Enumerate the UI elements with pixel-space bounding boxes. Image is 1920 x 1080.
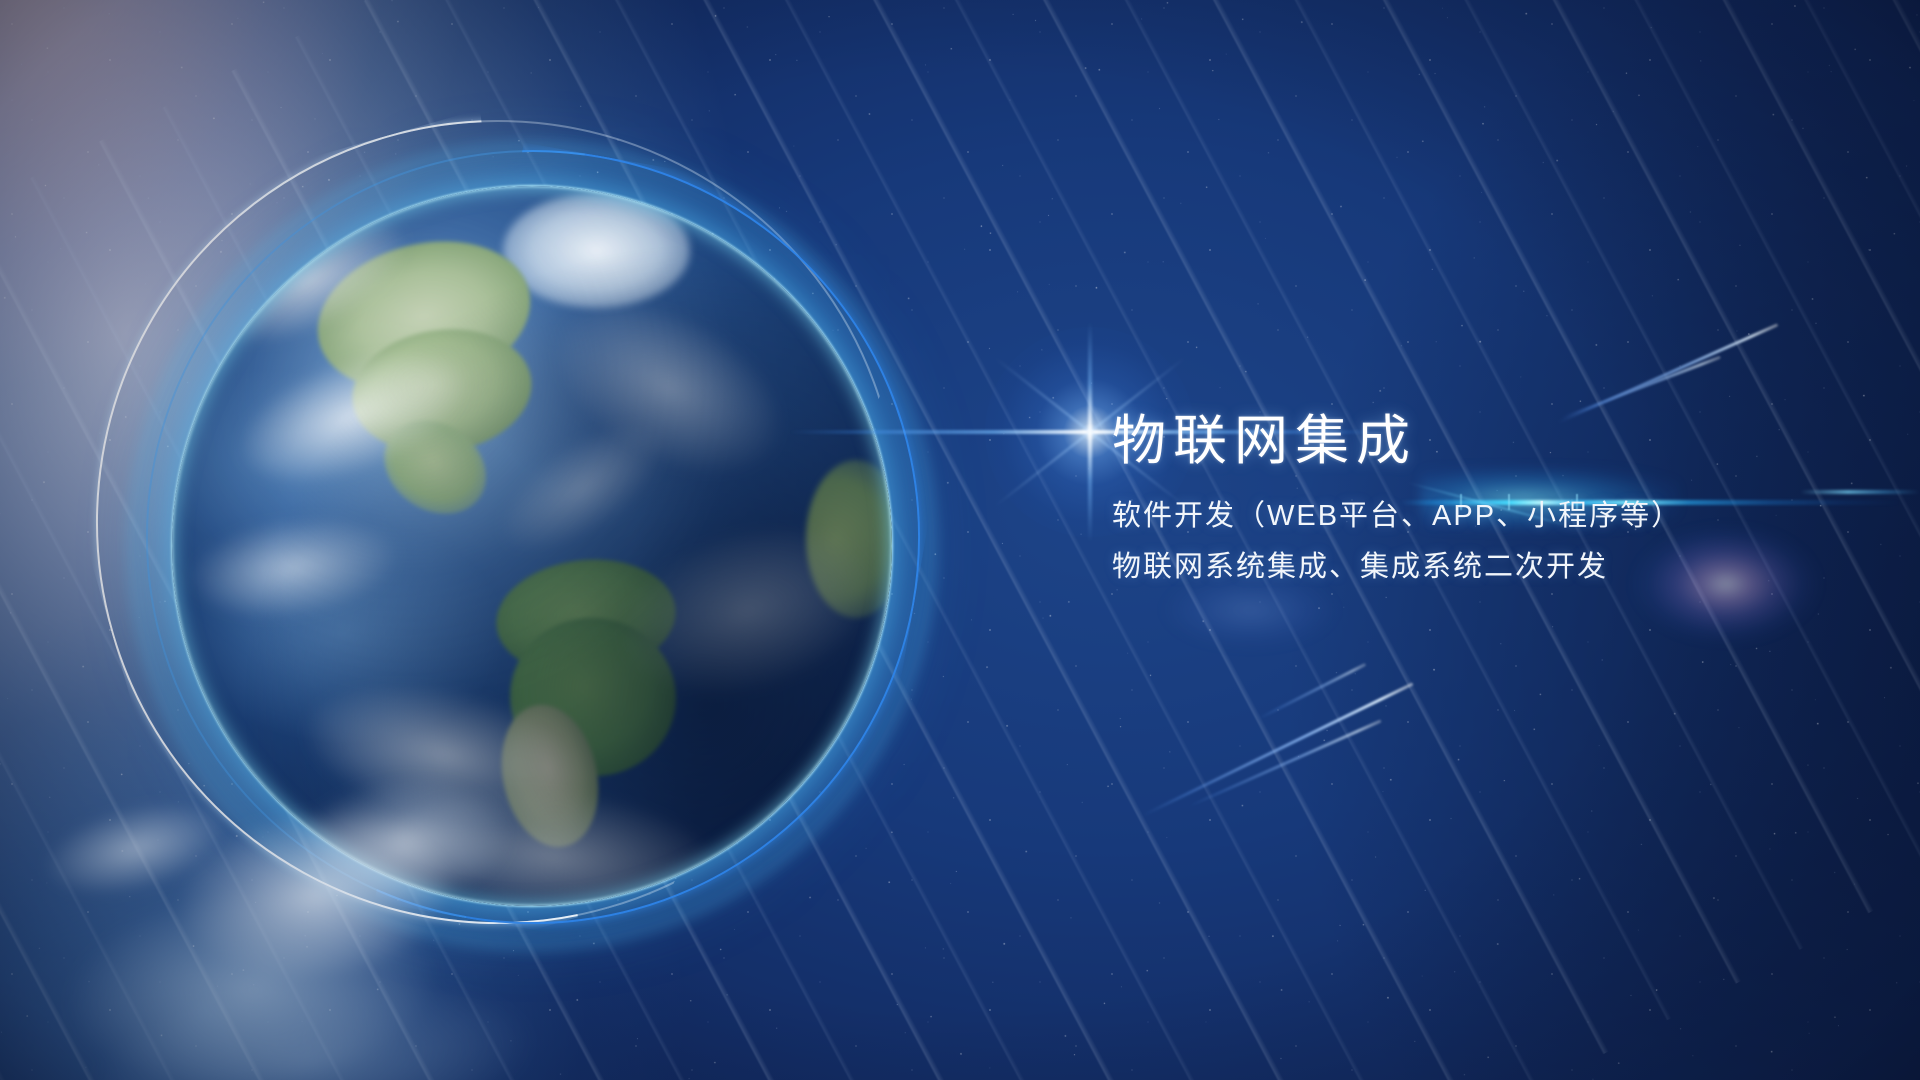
hero-banner: 物联网集成 软件开发（WEB平台、APP、小程序等） 物联网系统集成、集成系统二… [0,0,1920,1080]
subtitle-line-1: 软件开发（WEB平台、APP、小程序等） [1112,502,1852,531]
subtitle-line-2: 物联网系统集成、集成系统二次开发 [1112,553,1852,582]
hero-copy-block: 物联网集成 软件开发（WEB平台、APP、小程序等） 物联网系统集成、集成系统二… [1112,414,1852,582]
page-title: 物联网集成 [1112,414,1852,468]
